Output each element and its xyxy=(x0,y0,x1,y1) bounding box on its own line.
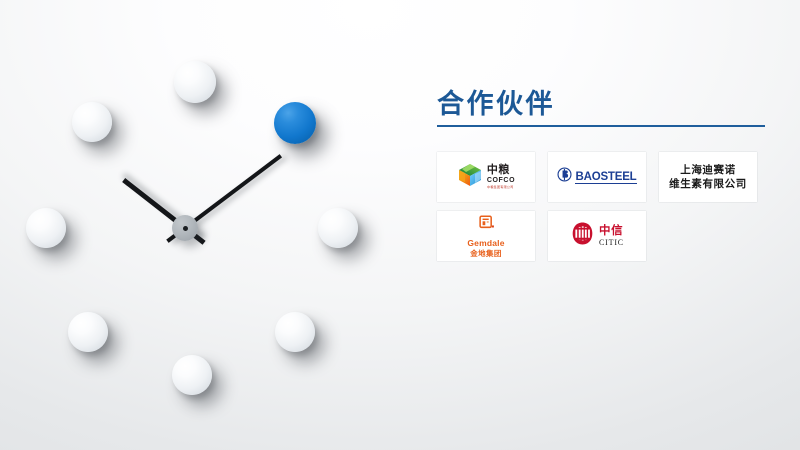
clock-marker-5 xyxy=(275,312,315,352)
clock-marker-1 xyxy=(274,102,316,144)
section-header: 合作伙伴 xyxy=(430,90,780,127)
clock-marker-6 xyxy=(172,355,212,395)
gemdale-building-icon xyxy=(478,215,495,236)
clock-marker-12 xyxy=(174,61,216,103)
citic-wordmark: 中信 CITIC xyxy=(599,226,624,248)
baosteel-logo: BAOSTEEL xyxy=(557,167,636,187)
partner-card-gemdale[interactable]: Gemdale 金地集团 xyxy=(437,211,535,261)
cofco-logo: 中粮 COFCO 中粮集团有限公司 xyxy=(457,162,515,193)
clock-hub-pin xyxy=(183,226,188,231)
partner-card-citic[interactable]: 中信 CITIC xyxy=(548,211,646,261)
partner-card-baosteel[interactable]: BAOSTEEL xyxy=(548,152,646,202)
baosteel-wordmark: BAOSTEEL xyxy=(575,171,636,185)
cofco-cube-icon xyxy=(457,162,483,193)
slide-canvas: 合作伙伴 xyxy=(0,0,800,450)
citic-logo: 中信 CITIC xyxy=(570,221,624,251)
page-title: 合作伙伴 xyxy=(437,90,780,118)
clock-marker-7 xyxy=(68,312,108,352)
cofco-wordmark: 中粮 COFCO 中粮集团有限公司 xyxy=(487,165,515,189)
title-underline-divider xyxy=(437,125,765,127)
partner-card-cofco[interactable]: 中粮 COFCO 中粮集团有限公司 xyxy=(437,152,535,202)
citic-emblem-icon xyxy=(570,221,595,251)
shanghai-desano-logo: 上海迪赛诺 维生素有限公司 xyxy=(669,163,747,191)
gemdale-logo: Gemdale 金地集团 xyxy=(467,215,504,257)
gemdale-wordmark: Gemdale xyxy=(467,239,504,248)
desano-line-2: 维生素有限公司 xyxy=(669,177,747,191)
partner-logo-grid: 中粮 COFCO 中粮集团有限公司 BAOS xyxy=(437,152,777,261)
gemdale-wordmark-cn: 金地集团 xyxy=(470,250,502,258)
clock-marker-9 xyxy=(26,208,66,248)
partners-panel: 合作伙伴 xyxy=(430,90,780,261)
clock-marker-3 xyxy=(318,208,358,248)
wall-clock-photo xyxy=(0,0,400,450)
partner-card-shanghai-desano[interactable]: 上海迪赛诺 维生素有限公司 xyxy=(659,152,757,202)
desano-line-1: 上海迪赛诺 xyxy=(680,163,736,177)
clock-marker-11 xyxy=(72,102,112,142)
baosteel-emblem-icon xyxy=(557,167,572,187)
